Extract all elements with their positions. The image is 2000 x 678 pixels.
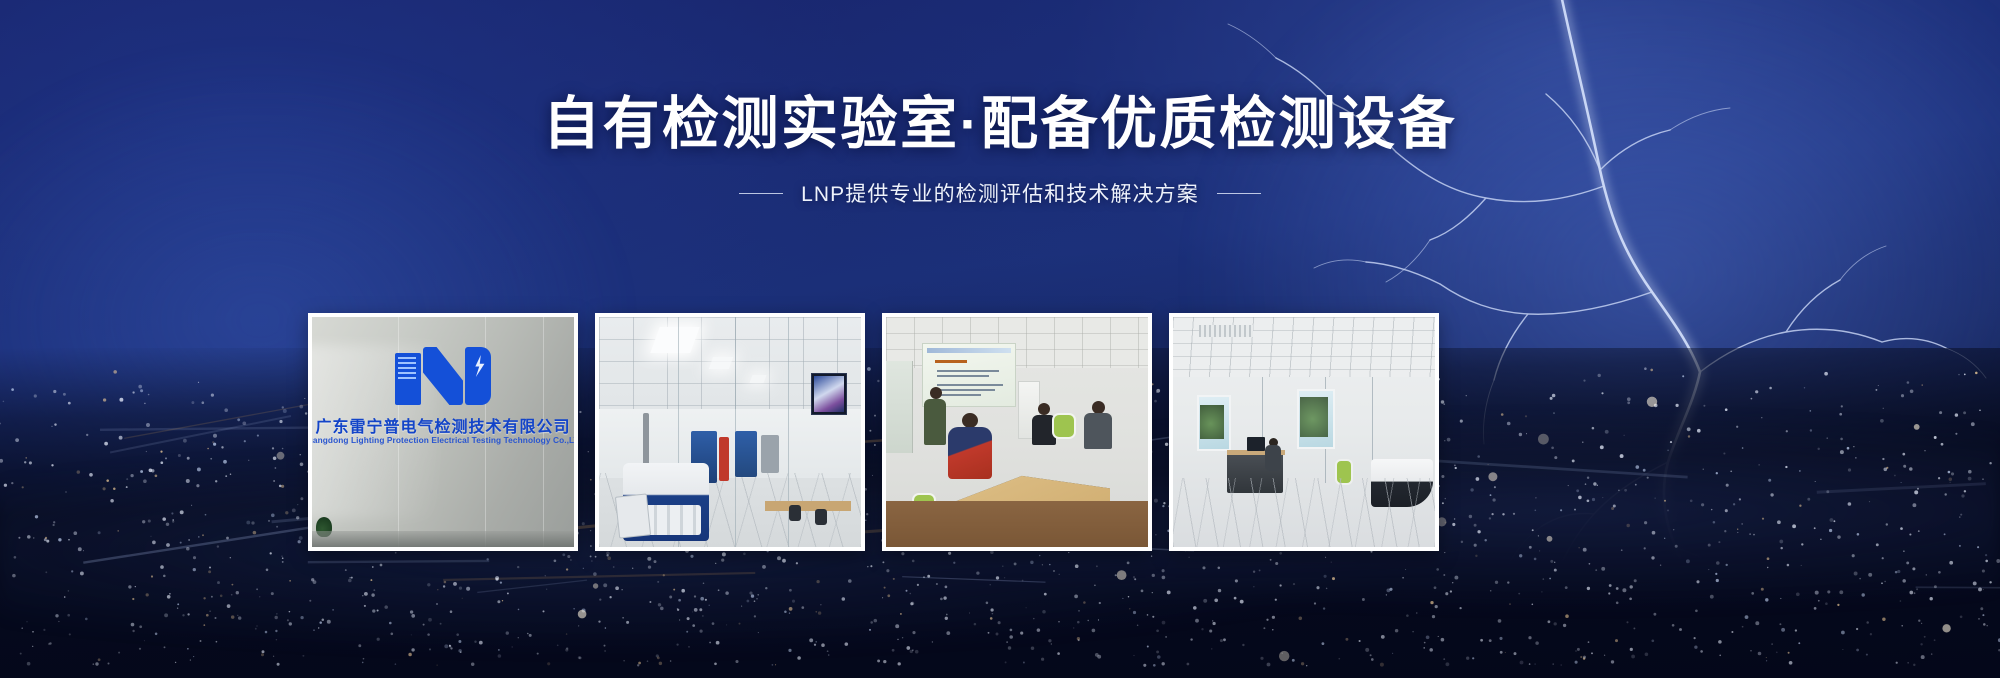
gallery-card-meeting[interactable] xyxy=(882,313,1152,551)
photo-gallery: 广东雷宁普电气检测技术有限公司 Guangdong Lighting Prote… xyxy=(308,313,1439,551)
gallery-card-company-sign[interactable]: 广东雷宁普电气检测技术有限公司 Guangdong Lighting Prote… xyxy=(308,313,578,551)
sign-text-cn: 广东雷宁普电气检测技术有限公司 xyxy=(315,413,570,437)
gallery-card-laboratory[interactable] xyxy=(595,313,865,551)
monitor-icon xyxy=(1247,437,1265,451)
gallery-card-office[interactable] xyxy=(1169,313,1439,551)
page-title: 自有检测实验室·配备优质检测设备 xyxy=(0,96,2000,153)
hero-banner: 自有检测实验室·配备优质检测设备 LNP提供专业的检测评估和技术解决方案 广东雷… xyxy=(0,0,2000,678)
lnp-logo-icon xyxy=(395,347,491,405)
left-dash-icon xyxy=(739,193,783,194)
wall-monitor-icon xyxy=(811,373,847,415)
sign-text-en: Guangdong Lighting Protection Electrical… xyxy=(312,435,574,445)
right-dash-icon xyxy=(1217,193,1261,194)
page-subtitle: LNP提供专业的检测评估和技术解决方案 xyxy=(801,178,1199,208)
subtitle-row: LNP提供专业的检测评估和技术解决方案 xyxy=(0,178,2000,208)
testing-laboratory-photo xyxy=(599,317,861,547)
headline-block: 自有检测实验室·配备优质检测设备 LNP提供专业的检测评估和技术解决方案 xyxy=(0,96,2000,208)
company-sign-photo: 广东雷宁普电气检测技术有限公司 Guangdong Lighting Prote… xyxy=(312,317,574,547)
training-meeting-photo xyxy=(886,317,1148,547)
office-corridor-photo xyxy=(1173,317,1435,547)
